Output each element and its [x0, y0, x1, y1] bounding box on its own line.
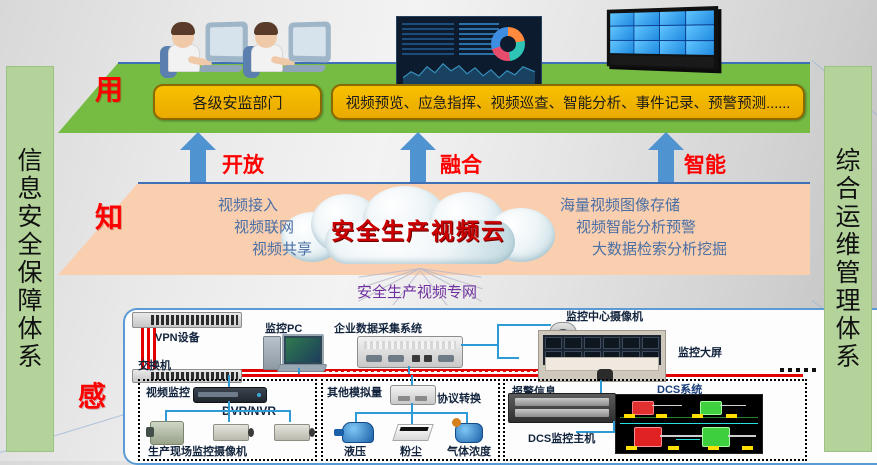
dcs-vessel-red-main: [634, 427, 662, 447]
stage-label-know: 知: [95, 196, 123, 236]
stage-label-use: 用: [95, 68, 123, 108]
dcs-tag-5: [626, 446, 637, 450]
dcs-tag-7: [708, 446, 719, 450]
wire-cam-vert: [497, 324, 499, 358]
arrow-converge: [400, 132, 436, 182]
hydraulic-sensor-icon: [342, 422, 374, 443]
dcs-tag-3: [692, 414, 703, 418]
dcs-pipe-4: [728, 435, 756, 437]
box-camera-icon-2: [274, 424, 310, 441]
pill-dept-label: 各级安监部门: [192, 92, 282, 113]
cloud-right-capabilities: 海量视频图像存储 视频智能分析预警 大数据检索分析挖掘: [560, 195, 810, 260]
wire-conv-up: [411, 375, 413, 385]
arrow-open: [180, 132, 216, 182]
data-acq-server-icon: [357, 336, 463, 368]
cloud-right-item-0: 海量视频图像存储: [560, 195, 810, 217]
server-port-5: [438, 355, 454, 362]
wire-cam2-drop: [228, 410, 230, 422]
wire-cam-horiz: [497, 324, 551, 326]
video-wall-illustration: [607, 6, 718, 70]
site-camera-label: 生产现场监控摄像机: [148, 443, 247, 459]
protocol-converter-icon: [390, 385, 436, 405]
keyboard-icon-2: [282, 65, 327, 72]
dust-label: 粉尘: [400, 443, 422, 459]
dcs-tag-4: [726, 414, 737, 418]
wire-cam-to-room: [497, 357, 519, 359]
diagram-canvas: 信 息 安 全 保 障 体 系 综 合 运 维 管 理 体 系: [0, 0, 877, 461]
wire-dvr-up: [228, 375, 230, 387]
converter-port-2: [415, 396, 427, 401]
arrow-intelligent: [648, 132, 684, 182]
control-room-photo: [538, 330, 666, 382]
group-analog-signals-title: 其他模拟量: [327, 384, 382, 400]
dust-sensor-icon: [392, 424, 434, 441]
arrow-shaft: [190, 148, 206, 182]
dcs-pipe-2: [652, 405, 682, 406]
dvr-led: [257, 393, 261, 397]
cloud-right-item-2: 大数据检索分析挖掘: [592, 239, 810, 261]
server-vents: [364, 341, 456, 349]
arrow-shaft: [658, 148, 674, 182]
pill-application-functions[interactable]: 视频预览、应急指挥、视频巡查、智能分析、事件记录、预警预测......: [331, 84, 805, 120]
pillar-left-char-1: 息: [17, 175, 42, 203]
monitor-screen-1: [210, 27, 243, 57]
layer-middle-edge: [138, 182, 810, 184]
arrow-label-intelligent: 智能: [684, 149, 726, 179]
vpn-device-label: VPN设备: [155, 329, 200, 345]
pillar-right-char-7: 系: [835, 343, 860, 371]
dcs-flow-arrow: [676, 439, 700, 440]
dcs-vessel-green-main: [702, 427, 730, 447]
pillar-information-security: 信 息 安 全 保 障 体 系: [6, 66, 54, 452]
dcs-system-screenshot: [615, 394, 763, 454]
cloud-shape: 安全生产视频云: [281, 186, 556, 264]
pillar-left-char-6: 体: [17, 315, 42, 343]
center-camera-label: 监控中心摄像机: [566, 308, 643, 324]
operator-illustration-2: [243, 16, 333, 78]
monitor-screen-2: [293, 27, 326, 57]
dash-table-left: [402, 23, 454, 57]
switch-label: 交换机: [138, 357, 171, 373]
dcs-tag-1: [624, 414, 635, 418]
person-hair: [254, 22, 278, 35]
group-video-surveillance-title: 视频监控: [146, 384, 190, 400]
dash-sparkline-chart: [403, 58, 535, 84]
arrow-shaft: [410, 148, 426, 182]
cloud-left-capabilities: 视频接入 视频联网 视频共享: [148, 195, 278, 260]
pillar-left-char-4: 保: [17, 259, 42, 287]
pillar-left-char-5: 障: [17, 287, 42, 315]
dcs-tag-2: [656, 414, 667, 418]
cloud-left-item-1: 视频联网: [148, 217, 294, 239]
arrow-label-converge: 融合: [440, 149, 482, 179]
dcs-pipe-1: [660, 435, 702, 437]
pillar-right-char-4: 管: [835, 259, 860, 287]
vpn-device-icon: [132, 312, 242, 328]
person-hair: [171, 22, 195, 35]
wire-cam3-drop: [289, 410, 291, 422]
pillar-left-char-3: 全: [17, 231, 42, 259]
cloud-left-item-2: 视频共享: [148, 239, 312, 261]
converter-port-1: [398, 396, 410, 401]
wire-pc-to-bus: [298, 368, 300, 374]
server-port-1: [366, 355, 382, 362]
dcs-bus-top: [620, 417, 758, 418]
dcs-host-bay-1: [515, 398, 609, 406]
dcs-host-bay-2: [515, 409, 609, 417]
pillar-right-char-2: 运: [835, 203, 860, 231]
dcs-vessel-red-top: [632, 401, 654, 415]
pillar-left-char-7: 系: [17, 343, 42, 371]
dcs-bus-mid: [620, 423, 758, 424]
hydraulic-sensor-nozzle: [334, 429, 344, 436]
dcs-tag-8: [742, 446, 753, 450]
big-screen-label: 监控大屏: [678, 344, 722, 360]
pillar-left-char-2: 安: [17, 203, 42, 231]
protocol-converter-label: 协议转换: [437, 390, 481, 406]
gas-concentration-label: 气体浓度: [447, 443, 491, 459]
ptz-camera-icon: [150, 421, 184, 445]
wire-acq-to-center: [461, 344, 497, 346]
pill-func-label: 视频预览、应急指挥、视频巡查、智能分析、事件记录、预警预测......: [346, 92, 791, 113]
hydraulic-label: 液压: [344, 443, 366, 459]
pc-keyboard-icon: [277, 364, 328, 372]
dcs-pipe-3: [720, 405, 746, 406]
pc-monitor-icon: [282, 334, 324, 366]
video-wall-base: [610, 55, 714, 68]
dcs-host-icon: [508, 393, 616, 423]
pillar-left-char-0: 信: [17, 147, 42, 175]
keyboard-icon-1: [199, 65, 244, 72]
gas-sensor-probe: [452, 418, 461, 427]
cloud-right-item-1: 视频智能分析预警: [576, 217, 810, 239]
server-port-4: [424, 355, 432, 362]
server-port-2: [388, 355, 404, 362]
trunk-wire-dotted: [296, 371, 776, 373]
wire-dust-drop: [411, 412, 413, 424]
server-port-3: [412, 355, 420, 362]
cloud-left-item-0: 视频接入: [148, 195, 278, 217]
pill-supervision-departments[interactable]: 各级安监部门: [153, 84, 322, 120]
dcs-tag-6: [668, 446, 679, 450]
dcs-vessel-green-top: [700, 401, 722, 415]
data-acq-label: 企业数据采集系统: [334, 320, 422, 336]
pillar-right-char-5: 理: [835, 287, 860, 315]
dvr-front-panel: [198, 392, 238, 397]
dvr-nvr-icon: [193, 387, 267, 403]
box-camera-icon-1: [213, 424, 249, 441]
pillar-right-char-6: 体: [835, 315, 860, 343]
pillar-right-char-0: 综: [835, 147, 860, 175]
stage-label-sense: 感: [78, 375, 106, 415]
ptz-camera-lens: [146, 427, 154, 437]
private-network-label: 安全生产视频专网: [357, 281, 477, 302]
operator-illustration-1: [160, 16, 250, 78]
analytics-dashboard-screen: [396, 16, 542, 90]
dcs-host-label: DCS监控主机: [528, 430, 595, 446]
video-wall-grid: [610, 10, 714, 55]
pillar-right-char-1: 合: [835, 175, 860, 203]
trunk-wire-dots-right: [780, 368, 816, 372]
pc-monitor-content: [286, 338, 320, 362]
pillar-right-char-3: 维: [835, 231, 860, 259]
wire-acq-to-bus: [408, 366, 410, 374]
dash-donut-chart: [491, 27, 525, 61]
pillar-operations-management: 综 合 运 维 管 理 体 系: [824, 66, 872, 452]
cloud-center-label: 安全生产视频云: [281, 212, 556, 246]
arrow-label-open: 开放: [222, 149, 264, 179]
vpn-ports: [151, 315, 238, 325]
